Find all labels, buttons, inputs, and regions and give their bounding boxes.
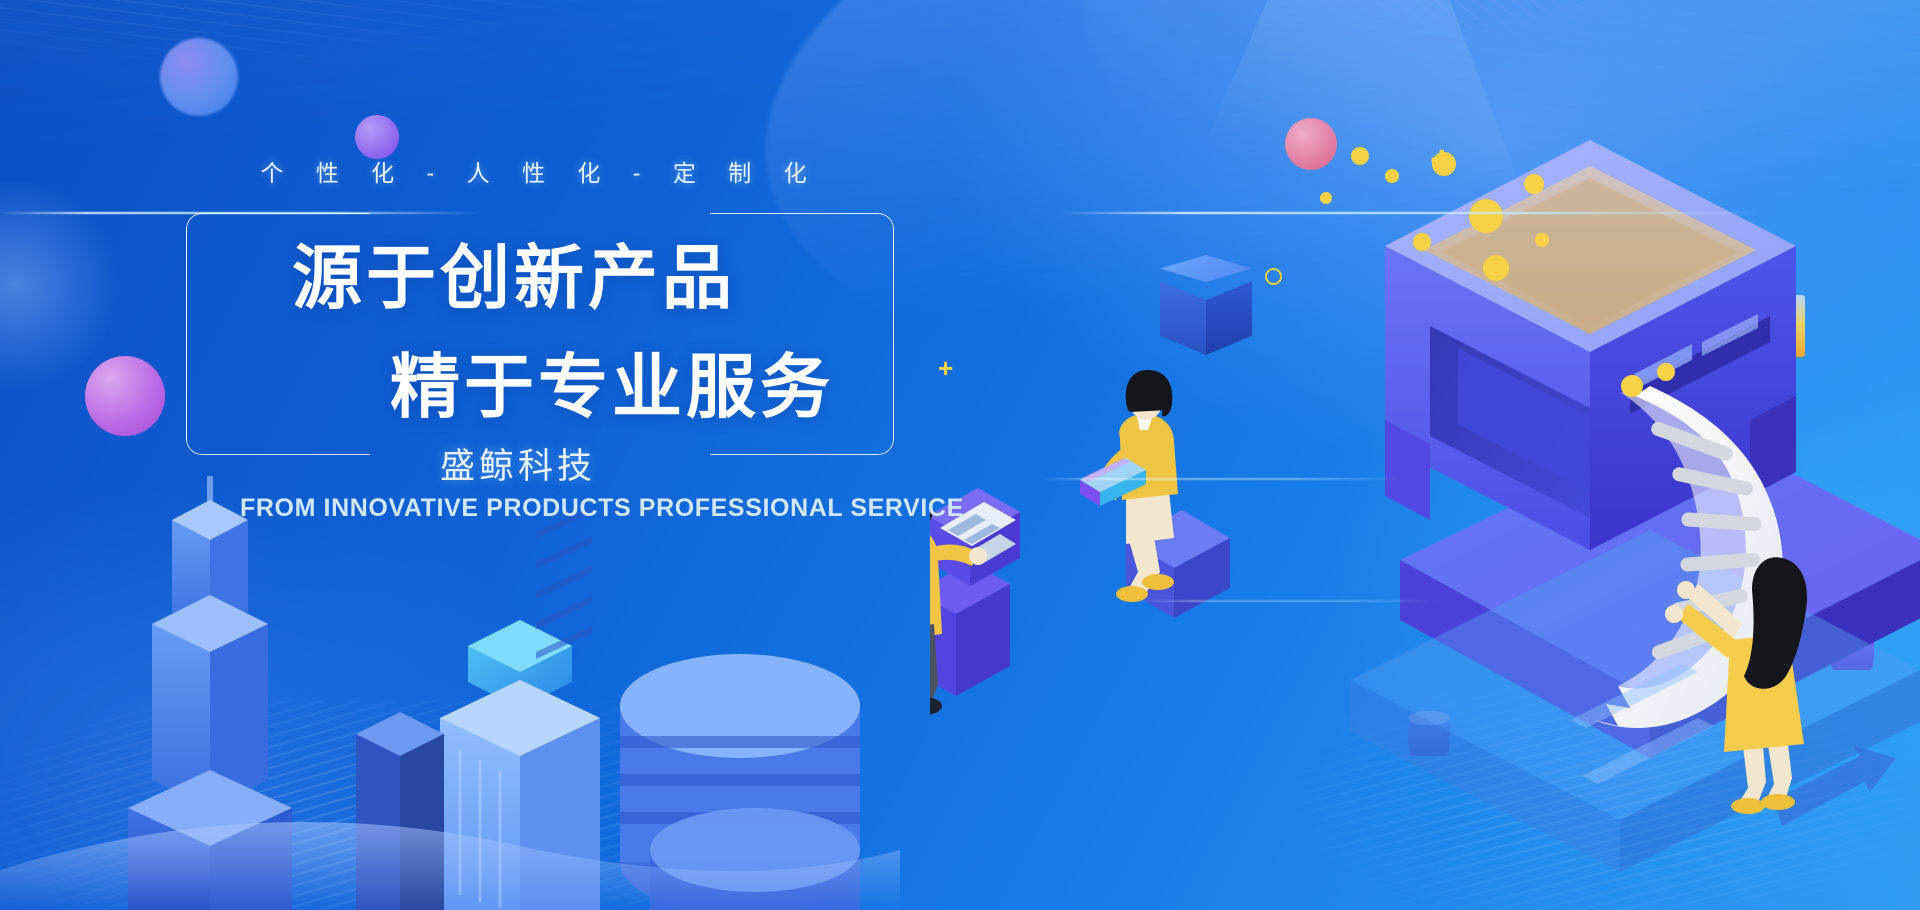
accent-line-right <box>1060 212 1760 214</box>
isometric-printer-illustration <box>930 120 1920 910</box>
accent-line-mid-right <box>1042 478 1402 480</box>
banner-kicker: 个 性 化 - 人 性 化 - 定 制 化 <box>0 154 1080 188</box>
person-sitting-with-laptop <box>1080 370 1230 618</box>
headline-line-2: 精于专业服务 <box>390 352 834 422</box>
hero-banner: + + + <box>0 0 1920 910</box>
stripe-arc-top-left <box>0 0 930 170</box>
accent-line-lower-right <box>1140 600 1440 602</box>
orb-blue-icon <box>160 38 238 116</box>
english-tagline: FROM INNOVATIVE PRODUCTS PROFESSIONAL SE… <box>240 494 964 523</box>
headline-line-1: 源于创新产品 <box>292 243 736 313</box>
orb-violet-small-icon <box>355 115 399 159</box>
brand-name: 盛鲸科技 <box>440 438 596 489</box>
